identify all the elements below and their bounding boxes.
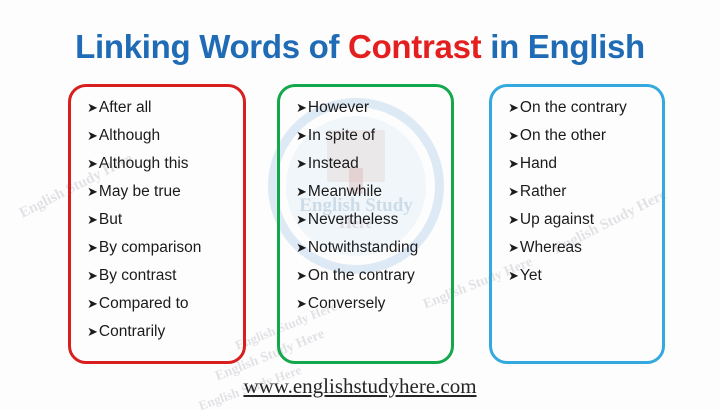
list-item: ➤After all bbox=[87, 100, 237, 116]
list-item-label: By contrast bbox=[99, 268, 177, 284]
arrow-bullet-icon: ➤ bbox=[87, 241, 98, 254]
list-item: ➤Hand bbox=[508, 156, 656, 172]
list-item-label: Contrarily bbox=[99, 324, 165, 340]
list-item: ➤On the other bbox=[508, 128, 656, 144]
list-item: ➤Compared to bbox=[87, 296, 237, 312]
list-item: ➤Although bbox=[87, 128, 237, 144]
list-item-label: Although bbox=[99, 128, 160, 144]
list-item: ➤In spite of bbox=[296, 128, 445, 144]
arrow-bullet-icon: ➤ bbox=[87, 129, 98, 142]
arrow-bullet-icon: ➤ bbox=[296, 241, 307, 254]
word-list-red: ➤After all ➤Although ➤Although this ➤May… bbox=[87, 100, 237, 340]
arrow-bullet-icon: ➤ bbox=[87, 213, 98, 226]
arrow-bullet-icon: ➤ bbox=[87, 325, 98, 338]
list-item: ➤Notwithstanding bbox=[296, 240, 445, 256]
list-item: ➤Meanwhile bbox=[296, 184, 445, 200]
list-item: ➤On the contrary bbox=[296, 268, 445, 284]
arrow-bullet-icon: ➤ bbox=[296, 297, 307, 310]
list-item-label: Rather bbox=[520, 184, 567, 200]
word-list-green: ➤However ➤In spite of ➤Instead ➤Meanwhil… bbox=[296, 100, 445, 312]
list-item: ➤Up against bbox=[508, 212, 656, 228]
arrow-bullet-icon: ➤ bbox=[87, 157, 98, 170]
list-item: ➤Although this bbox=[87, 156, 237, 172]
list-item: ➤By comparison bbox=[87, 240, 237, 256]
list-item-label: May be true bbox=[99, 184, 181, 200]
footer: www.englishstudyhere.com bbox=[0, 374, 720, 399]
list-item: ➤Conversely bbox=[296, 296, 445, 312]
list-item: ➤Instead bbox=[296, 156, 445, 172]
list-item: ➤Yet bbox=[508, 268, 656, 284]
list-item-label: Yet bbox=[520, 268, 542, 284]
title-part-one: Linking Words of bbox=[75, 28, 348, 65]
list-item-label: After all bbox=[99, 100, 152, 116]
arrow-bullet-icon: ➤ bbox=[508, 129, 519, 142]
list-item: ➤But bbox=[87, 212, 237, 228]
arrow-bullet-icon: ➤ bbox=[508, 213, 519, 226]
list-item-label: Notwithstanding bbox=[308, 240, 418, 256]
word-list-blue: ➤On the contrary ➤On the other ➤Hand ➤Ra… bbox=[508, 100, 656, 284]
list-item: ➤Nevertheless bbox=[296, 212, 445, 228]
list-item-label: However bbox=[308, 100, 369, 116]
list-item-label: In spite of bbox=[308, 128, 375, 144]
list-item: ➤However bbox=[296, 100, 445, 116]
list-item-label: On the contrary bbox=[308, 268, 415, 284]
list-item-label: On the contrary bbox=[520, 100, 627, 116]
list-item-label: On the other bbox=[520, 128, 606, 144]
list-item: ➤By contrast bbox=[87, 268, 237, 284]
list-item-label: Meanwhile bbox=[308, 184, 382, 200]
arrow-bullet-icon: ➤ bbox=[296, 185, 307, 198]
arrow-bullet-icon: ➤ bbox=[508, 185, 519, 198]
arrow-bullet-icon: ➤ bbox=[87, 297, 98, 310]
list-item: ➤Contrarily bbox=[87, 324, 237, 340]
page-title: Linking Words of Contrast in English bbox=[0, 28, 720, 66]
list-item: ➤May be true bbox=[87, 184, 237, 200]
list-item-label: But bbox=[99, 212, 122, 228]
arrow-bullet-icon: ➤ bbox=[508, 157, 519, 170]
list-item: ➤Whereas bbox=[508, 240, 656, 256]
arrow-bullet-icon: ➤ bbox=[296, 157, 307, 170]
arrow-bullet-icon: ➤ bbox=[296, 101, 307, 114]
arrow-bullet-icon: ➤ bbox=[296, 213, 307, 226]
word-card-blue: ➤On the contrary ➤On the other ➤Hand ➤Ra… bbox=[489, 84, 665, 364]
word-card-red: ➤After all ➤Although ➤Although this ➤May… bbox=[68, 84, 246, 364]
title-highlight-word: Contrast bbox=[348, 28, 481, 65]
website-url-link[interactable]: www.englishstudyhere.com bbox=[243, 374, 476, 398]
arrow-bullet-icon: ➤ bbox=[296, 269, 307, 282]
list-item-label: By comparison bbox=[99, 240, 202, 256]
list-item: ➤On the contrary bbox=[508, 100, 656, 116]
arrow-bullet-icon: ➤ bbox=[87, 185, 98, 198]
title-part-two: in English bbox=[481, 28, 645, 65]
list-item-label: Nevertheless bbox=[308, 212, 398, 228]
arrow-bullet-icon: ➤ bbox=[296, 129, 307, 142]
word-card-green: ➤However ➤In spite of ➤Instead ➤Meanwhil… bbox=[277, 84, 454, 364]
infographic-page: English Study Here English Study Here En… bbox=[0, 0, 720, 410]
list-item-label: Although this bbox=[99, 156, 189, 172]
list-item-label: Compared to bbox=[99, 296, 189, 312]
list-item-label: Instead bbox=[308, 156, 359, 172]
list-item: ➤Rather bbox=[508, 184, 656, 200]
list-item-label: Up against bbox=[520, 212, 594, 228]
arrow-bullet-icon: ➤ bbox=[508, 269, 519, 282]
arrow-bullet-icon: ➤ bbox=[508, 101, 519, 114]
arrow-bullet-icon: ➤ bbox=[87, 269, 98, 282]
arrow-bullet-icon: ➤ bbox=[508, 241, 519, 254]
list-item-label: Whereas bbox=[520, 240, 582, 256]
list-item-label: Hand bbox=[520, 156, 557, 172]
columns-container: ➤After all ➤Although ➤Although this ➤May… bbox=[0, 84, 720, 366]
arrow-bullet-icon: ➤ bbox=[87, 101, 98, 114]
list-item-label: Conversely bbox=[308, 296, 386, 312]
